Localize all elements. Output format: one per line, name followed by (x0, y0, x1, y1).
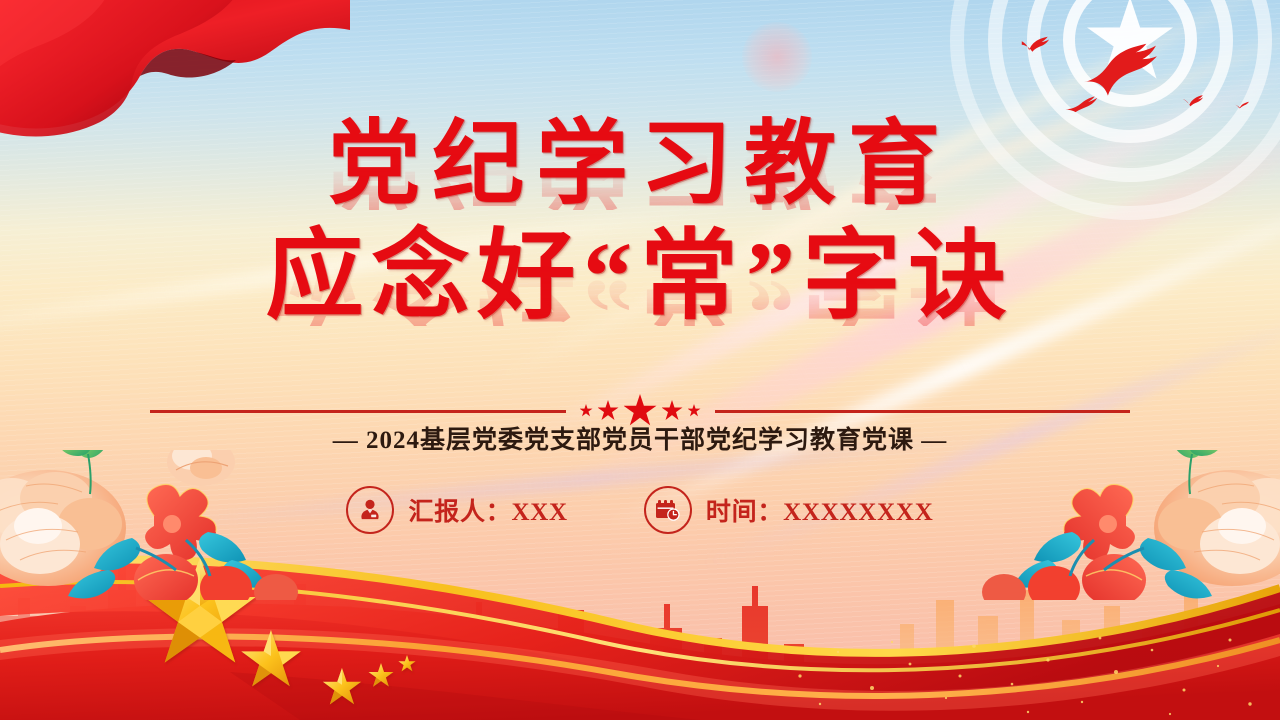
divider-star-icon (598, 400, 619, 421)
sparkle-dust (760, 580, 1280, 720)
peony-flowers-right (964, 450, 1280, 600)
page-title-line-1-text: 党纪学习教育 (328, 113, 952, 215)
gold-star-icon (368, 663, 394, 688)
title-block: 党纪学习教育 党纪学习教育 应念好“常”字诀 应念好“常”字诀 (0, 118, 1280, 326)
gold-star-icon (322, 668, 362, 706)
divider-star-icon (688, 404, 701, 417)
peony-flowers-left (0, 450, 316, 600)
page-title-line-1: 党纪学习教育 党纪学习教育 (0, 118, 1280, 210)
dove-icon (1082, 38, 1178, 99)
divider-rule-right (715, 410, 1131, 413)
bottom-scene (0, 450, 1280, 720)
dove-icon (1065, 92, 1113, 119)
dove-icon (1182, 90, 1214, 110)
dove-icon (1234, 98, 1256, 111)
page-title-line-2-text: 应念好“常”字诀 (266, 223, 1015, 331)
divider-star-icon (662, 400, 683, 421)
page-title-line-2: 应念好“常”字诀 应念好“常”字诀 (0, 228, 1280, 326)
sun-glow (742, 22, 812, 92)
divider-star-icon (580, 404, 593, 417)
presentation-slide: 党纪学习教育 党纪学习教育 应念好“常”字诀 应念好“常”字诀 — 2024基层… (0, 0, 1280, 720)
gold-star-icon (240, 630, 302, 690)
divider-rule-left (150, 410, 566, 413)
dove-icon (1020, 28, 1064, 59)
gold-star-icon (398, 655, 416, 672)
